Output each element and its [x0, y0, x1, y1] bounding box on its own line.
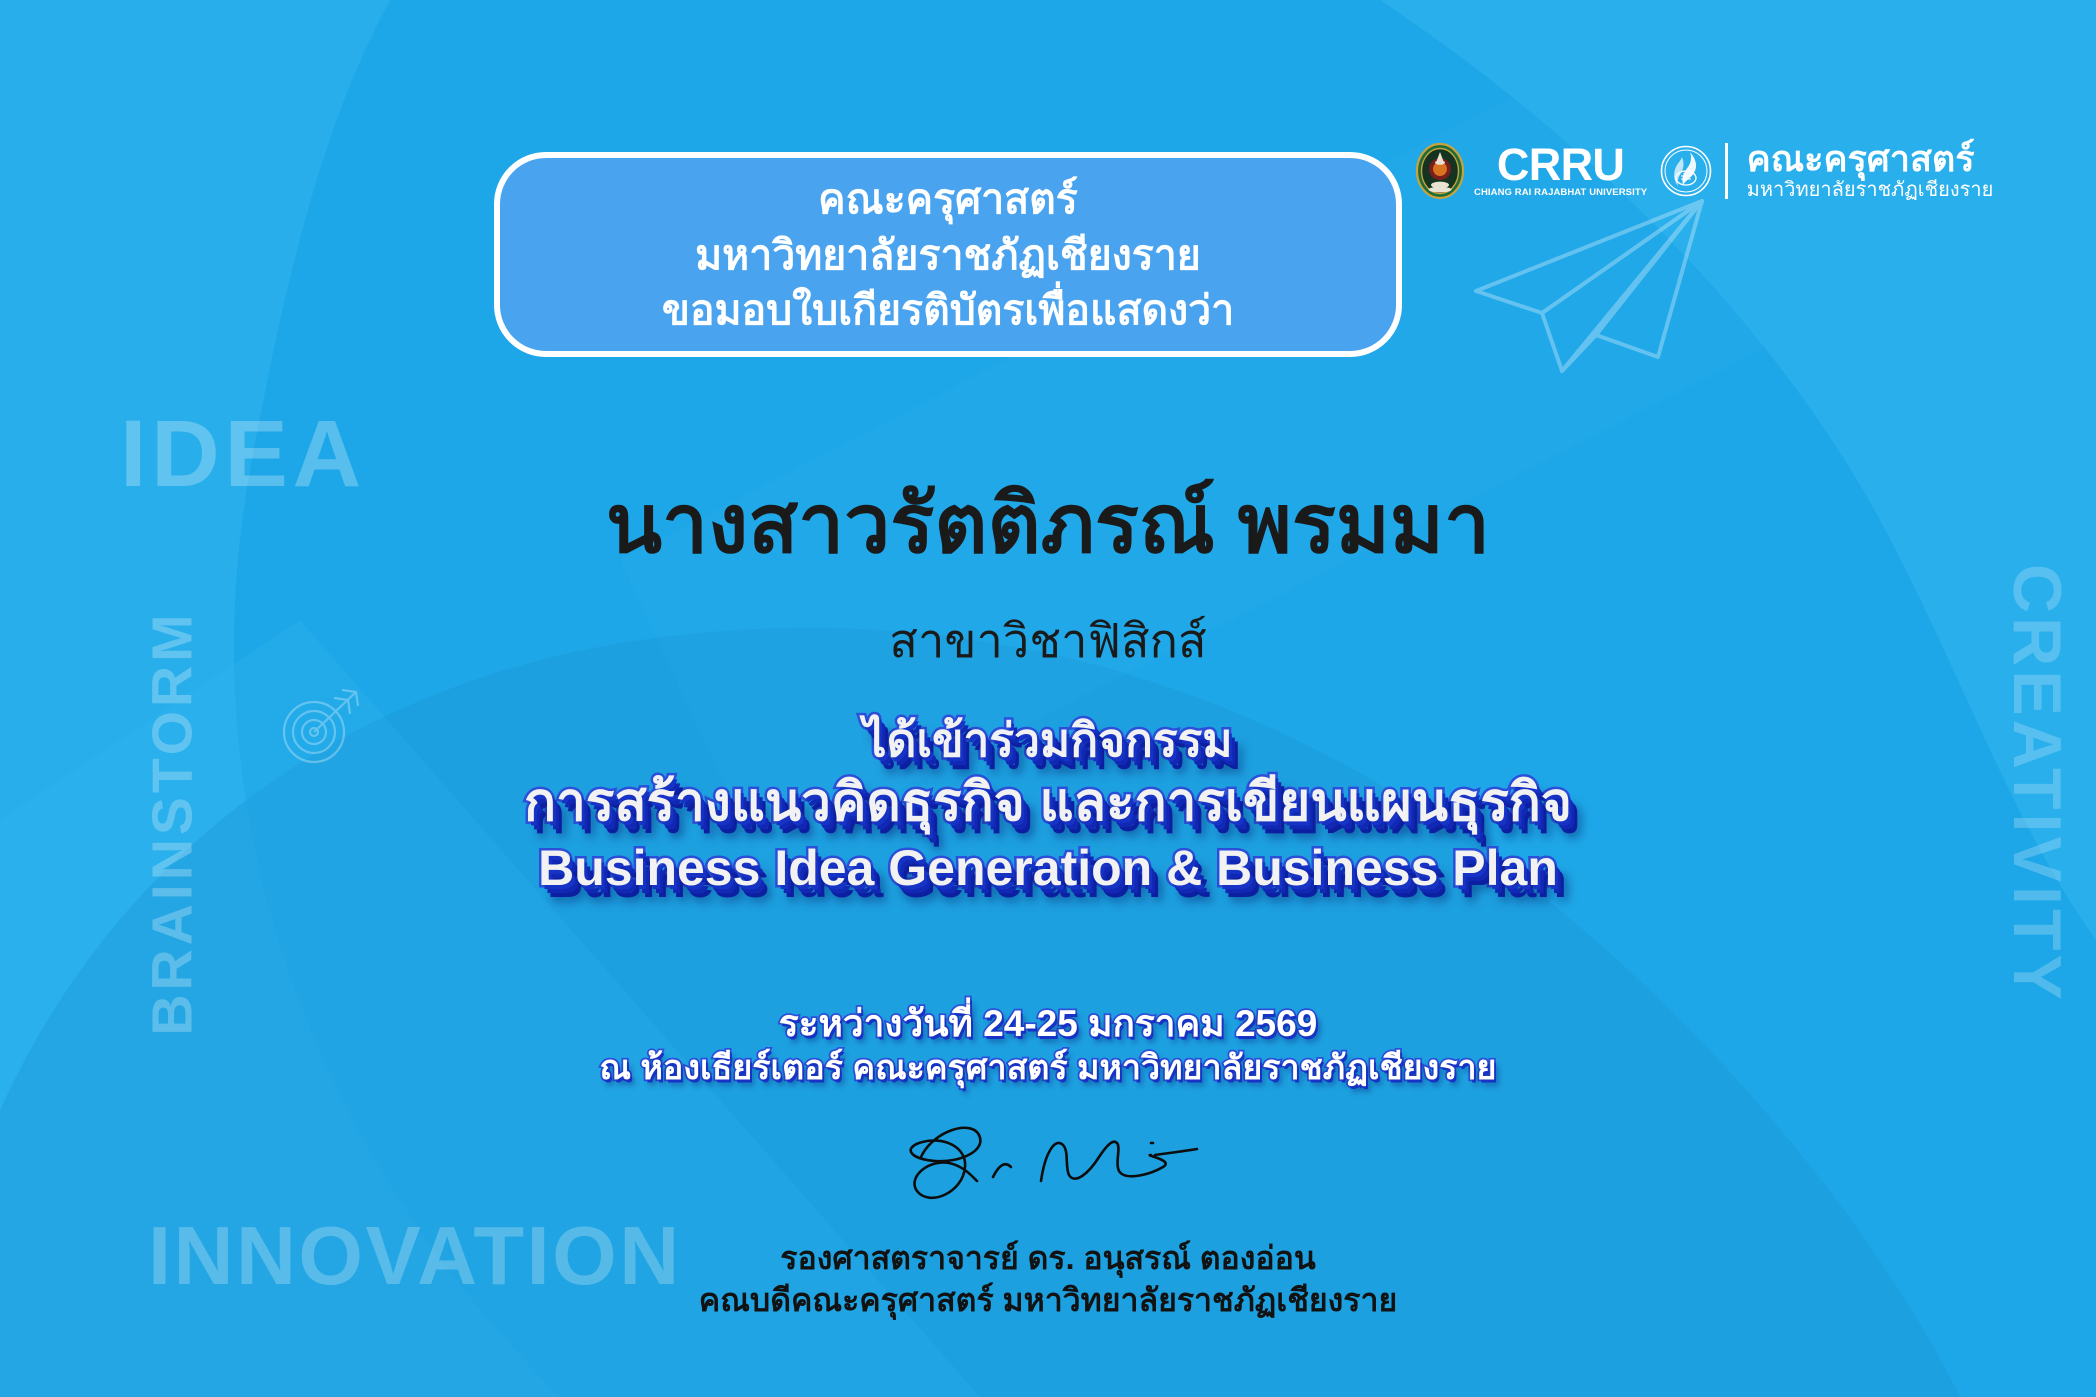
faculty-name-th: คณะครุศาสตร์ — [1747, 141, 1994, 178]
faculty-name-block: คณะครุศาสตร์ มหาวิทยาลัยราชภัฏเชียงราย — [1747, 141, 1994, 201]
event-date: ระหว่างวันที่ 24-25 มกราคม 2569 — [0, 1000, 2096, 1047]
header-line-award-statement: ขอมอบใบเกียรติบัตรเพื่อแสดงว่า — [662, 283, 1234, 339]
header-line-university: มหาวิทยาลัยราชภัฏเชียงราย — [695, 228, 1201, 284]
certificate-header-box: คณะครุศาสตร์ มหาวิทยาลัยราชภัฏเชียงราย ข… — [494, 152, 1402, 357]
faculty-flame-emblem-icon — [1660, 145, 1712, 197]
recipient-name: นางสาวรัตติภรณ์ พรมมา — [0, 480, 2096, 570]
signature-scribble — [863, 1115, 1233, 1225]
header-line-faculty: คณะครุศาสตร์ — [818, 172, 1078, 228]
activity-block: ได้เข้าร่วมกิจกรรม การสร้างแนวคิดธุรกิจ … — [0, 712, 2096, 900]
faculty-university-th: มหาวิทยาลัยราชภัฏเชียงราย — [1747, 179, 1994, 201]
event-venue: ณ ห้องเธียร์เตอร์ คณะครุศาสตร์ มหาวิทยาล… — [0, 1047, 2096, 1091]
crru-wordmark: CRRU CHIANG RAI RAJABHAT UNIVERSITY — [1474, 144, 1647, 198]
activity-title-en: Business Idea Generation & Business Plan — [0, 837, 2096, 900]
signer-name: รองศาสตราจารย์ ดร. อนุสรณ์ ตองอ่อน — [0, 1238, 2096, 1280]
crru-letters: CRRU — [1497, 144, 1624, 185]
event-details-block: ระหว่างวันที่ 24-25 มกราคม 2569 ณ ห้องเธ… — [0, 1000, 2096, 1091]
activity-title-th: การสร้างแนวคิดธุรกิจ และการเขียนแผนธุรกิ… — [0, 770, 2096, 837]
paper-plane-icon — [1470, 195, 1710, 380]
crru-royal-seal-icon — [1415, 142, 1465, 200]
recipient-major: สาขาวิชาฟิสิกส์ — [0, 615, 2096, 667]
signer-title: คณบดีคณะครุศาสตร์ มหาวิทยาลัยราชภัฏเชียง… — [0, 1280, 2096, 1322]
crru-subtitle: CHIANG RAI RAJABHAT UNIVERSITY — [1474, 187, 1647, 198]
logo-divider — [1725, 143, 1728, 199]
institution-logo-bar: CRRU CHIANG RAI RAJABHAT UNIVERSITY คณะค… — [1415, 132, 1993, 210]
activity-intro: ได้เข้าร่วมกิจกรรม — [0, 712, 2096, 770]
signer-block: รองศาสตราจารย์ ดร. อนุสรณ์ ตองอ่อน คณบดี… — [0, 1238, 2096, 1321]
certificate-canvas: IDEA BRAINSTORM INNOVATION CREATIVITY — [0, 0, 2096, 1397]
